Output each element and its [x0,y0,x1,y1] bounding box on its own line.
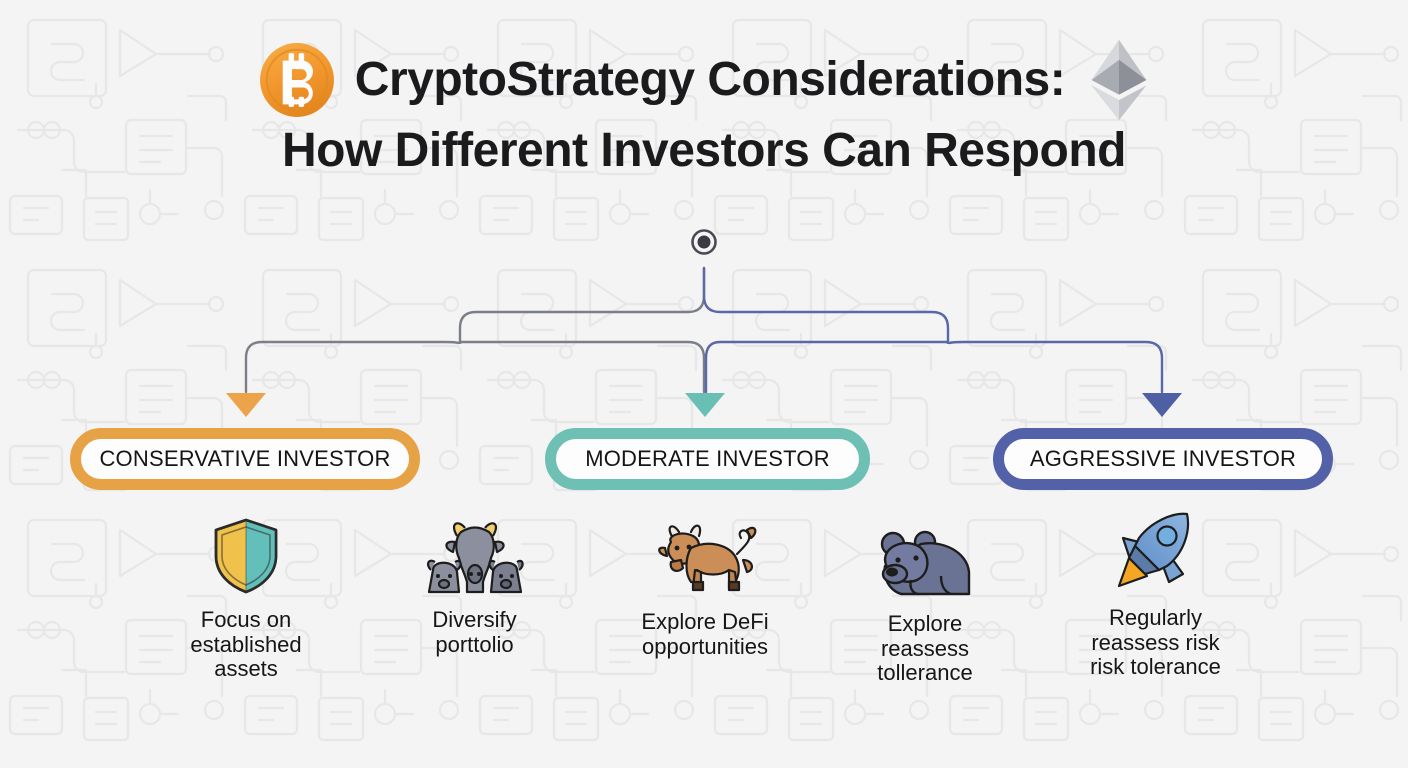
category-pill-moderate[interactable]: MODERATE INVESTOR [545,428,870,490]
category-label-moderate: MODERATE INVESTOR [585,446,830,472]
arrow-moderate [685,393,725,417]
item-explore-defi-opportunities: Explore DeFi opportunities [615,512,795,659]
category-label-conservative: CONSERVATIVE INVESTOR [99,446,390,472]
rocket-icon [1113,508,1199,594]
item-focus-on-established-assets: Focus on established assets [146,510,346,682]
item-caption-3: Explore reassess tollerance [877,612,972,686]
category-label-aggressive: AGGRESSIVE INVESTOR [1030,446,1296,472]
arrow-conservative [226,393,266,417]
root-node-dot [693,231,716,254]
item-caption-2: Explore DeFi opportunities [641,610,768,659]
item-caption-1: Diversify porttolio [432,608,516,657]
bull-and-bears-icon [421,510,529,596]
item-regularly-reassess-risk-tolerance: Regularly reassess risk risk tolerance [1063,508,1248,680]
bear-icon [875,514,975,600]
shield-icon [210,510,282,596]
item-caption-4: Regularly reassess risk risk tolerance [1090,606,1221,680]
category-pill-conservative[interactable]: CONSERVATIVE INVESTOR [70,428,420,490]
item-diversify-portfolio: Diversify porttolio [392,510,557,657]
arrow-aggressive [1142,393,1182,417]
category-pill-aggressive[interactable]: AGGRESSIVE INVESTOR [993,428,1333,490]
ox-icon [651,512,759,598]
item-caption-0: Focus on established assets [190,608,301,682]
item-explore-reassess-tolerance: Explore reassess tollerance [845,514,1005,686]
